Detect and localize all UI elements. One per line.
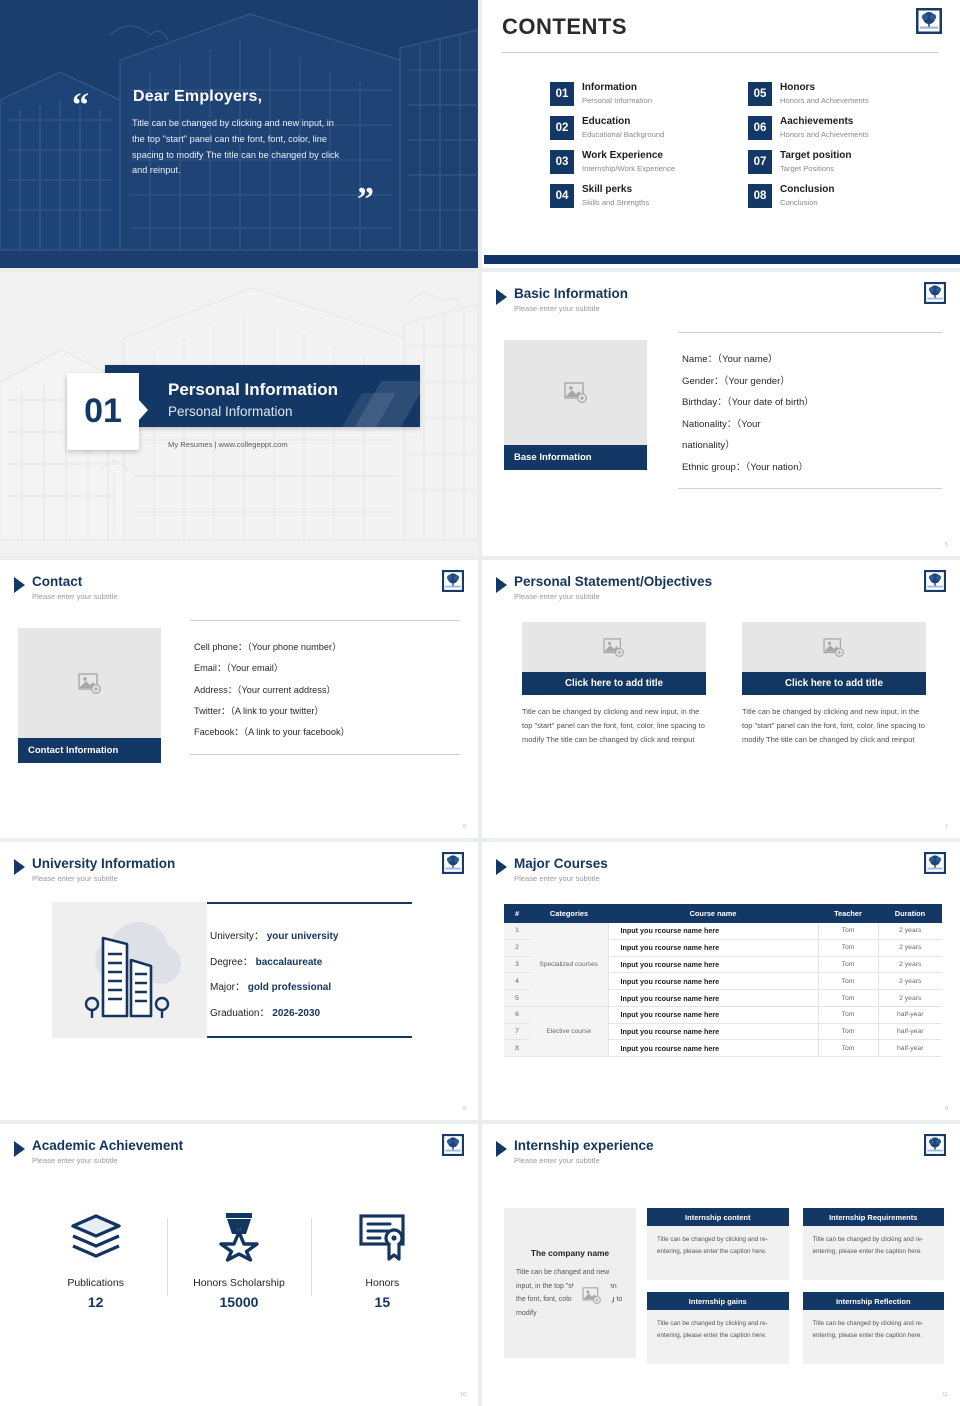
statement-card[interactable]: Click here to add title Title can be cha… [522,622,706,747]
info-panel: Cell phone：（Your phone number） Email：（Yo… [190,620,460,755]
contents-item-sub: Honors and Achievements [780,96,869,106]
contents-item[interactable]: 03 Work Experience Internship/Work Exper… [550,150,748,174]
field-value: 2026-2030 [272,1008,320,1019]
contents-item-number: 06 [748,116,772,140]
table-row[interactable]: 1 Specialized courses Input you rcourse … [504,923,942,939]
card-header: Internship Requirements [803,1208,945,1226]
photo-caption: Contact Information [18,738,161,763]
cell-duration: half-year [878,1006,942,1023]
contact-field: Facebook：（A link to your facebook） [194,722,460,743]
contact-field: Cell phone：（Your phone number） [194,637,460,658]
field-value: your university [267,931,339,942]
cell-index: 6 [504,1006,530,1023]
info-field: Nationality：（Your [682,414,942,436]
contents-item-number: 08 [748,184,772,208]
cell-teacher: Tom [818,923,878,939]
cell-teacher: Tom [818,990,878,1007]
internship-card[interactable]: Internship Requirements Title can be cha… [803,1208,945,1280]
card-body: Title can be changed by clicking and re-… [647,1226,789,1280]
courses-table: # Categories Course name Teacher Duratio… [504,904,942,1057]
field-label: Degree： [210,957,253,968]
header-triangle-icon [496,859,507,875]
cell-course-name: Input you rcourse name here [608,1040,818,1057]
section-meta: My Resumes | www.collegeppt.com [168,440,288,449]
column-header-teacher: Teacher [818,904,878,923]
cell-course-name: Input you rcourse name here [608,1006,818,1023]
cell-course-name: Input you rcourse name here [608,956,818,973]
cell-index: 2 [504,939,530,956]
page-number: 11 [942,1392,948,1398]
cell-index: 8 [504,1040,530,1057]
contact-field-list: Cell phone：（Your phone number） Email：（Yo… [190,621,460,754]
contents-item[interactable]: 08 Conclusion Conclusion [748,184,946,208]
achievement-stat[interactable]: Honors Scholarship 15000 [167,1210,310,1310]
cell-index: 7 [504,1023,530,1040]
image-placeholder[interactable] [742,622,926,672]
photo-block[interactable]: Contact Information [18,628,161,763]
cover-title: Dear Employers, [133,88,262,106]
stat-value: 15000 [167,1294,310,1310]
divider-bottom [190,754,460,755]
cover-body-text: Title can be changed by clicking and new… [132,116,347,179]
slide-header: University Information Please enter your… [14,856,175,883]
university-logo-icon [924,570,946,597]
info-panel: Name：（Your name） Gender：（Your gender） Bi… [678,332,942,489]
contents-item-label: Skill perks [582,184,649,197]
internship-card[interactable]: Internship content Title can be changed … [647,1208,789,1280]
section-arrow-icon [139,400,148,420]
page-subtitle: Please enter your subtitle [514,1156,654,1165]
column-header-categories: Categories [530,904,608,923]
info-field-list: Name：（Your name） Gender：（Your gender） Bi… [678,333,942,488]
page-number: 9 [945,1106,948,1112]
slide-personal-statement[interactable]: Personal Statement/Objectives Please ent… [482,560,960,838]
contents-item-sub: Internship/Work Experience [582,164,675,174]
quote-close-icon: ” [357,190,372,210]
image-placeholder[interactable] [571,1274,613,1316]
contents-item-label: Conclusion [780,184,834,197]
medal-icon [210,1210,268,1262]
cell-category: Specialized courses [530,923,608,1006]
page-title: University Information [32,856,175,872]
cell-teacher: Tom [818,1023,878,1040]
stat-label: Honors Scholarship [167,1277,310,1289]
header-triangle-icon [496,1141,507,1157]
slide-contact[interactable]: Contact Please enter your subtitle Conta… [0,560,478,838]
page-title: Major Courses [514,856,608,872]
contents-item[interactable]: 04 Skill perks Skills and Strengths [550,184,748,208]
stat-value: 15 [311,1294,454,1310]
cell-teacher: Tom [818,956,878,973]
statement-card-row: Click here to add title Title can be cha… [522,622,926,747]
achievement-stat[interactable]: Publications 12 [24,1210,167,1310]
contents-item-number: 05 [748,82,772,106]
slide-header: Academic Achievement Please enter your s… [14,1138,183,1165]
card-header: Internship gains [647,1292,789,1310]
page-subtitle: Please enter your subtitle [32,592,118,601]
contact-field: Twitter：（A link to your twitter） [194,701,460,722]
slide-header: Personal Statement/Objectives Please ent… [496,574,712,601]
slide-contents[interactable]: CONTENTS 01 Information Personal Informa… [482,0,960,268]
cell-index: 5 [504,990,530,1007]
cell-index: 1 [504,923,530,939]
page-subtitle: Please enter your subtitle [514,874,608,883]
section-number: 01 [67,373,139,450]
card-header: Internship content [647,1208,789,1226]
page-subtitle: Please enter your subtitle [514,592,712,601]
page-title: Basic Information [514,286,628,302]
column-header-duration: Duration [878,904,942,923]
page-title: Academic Achievement [32,1138,183,1154]
field-value: gold professional [248,982,331,993]
slide-header: Internship experience Please enter your … [496,1138,654,1165]
contents-item[interactable]: 01 Information Personal Information [550,82,748,106]
divider-bottom [678,488,942,489]
section-subtitle: Personal Information [168,404,293,419]
header-triangle-icon [14,1141,25,1157]
contents-item-number: 07 [748,150,772,174]
contents-item[interactable]: 02 Education Educational Background [550,116,748,140]
contents-item-label: Education [582,116,664,129]
card-title-button[interactable]: Click here to add title [742,672,926,695]
header-triangle-icon [496,577,507,593]
page-number: 8 [463,1106,466,1112]
internship-card[interactable]: Internship gains Title can be changed by… [647,1292,789,1364]
contents-item-sub: Skills and Strengths [582,198,649,208]
info-field: nationality） [682,435,942,457]
slide-university-information[interactable]: University Information Please enter your… [0,842,478,1120]
cell-index: 4 [504,973,530,990]
contents-title: CONTENTS [502,14,627,40]
slide-cover[interactable]: “ ” Dear Employers, Title can be changed… [0,0,478,268]
contents-item-label: Aachievements [780,116,869,129]
image-placeholder[interactable] [18,628,161,738]
card-body: Title can be changed by clicking and re-… [803,1310,945,1364]
achievement-stats-row: Publications 12 Honors Scholarship 15000 [24,1210,454,1310]
table-header-row: # Categories Course name Teacher Duratio… [504,904,942,923]
company-panel[interactable]: The company name Title can be changed an… [504,1208,636,1358]
contents-item-number: 03 [550,150,574,174]
cell-duration: 2 years [878,923,942,939]
cell-index: 3 [504,956,530,973]
slide-header: Major Courses Please enter your subtitle [496,856,608,883]
university-logo-icon [924,282,946,309]
card-body: Title can be changed by clicking and re-… [647,1310,789,1364]
stat-label: Honors [311,1277,454,1289]
page-title: Personal Statement/Objectives [514,574,712,590]
header-triangle-icon [496,289,507,305]
cell-teacher: Tom [818,1040,878,1057]
contents-item-grid: 01 Information Personal Information 05 H… [550,82,946,208]
company-name: The company name [504,1248,636,1258]
contents-footer-bar [484,255,960,264]
books-stack-icon [67,1210,125,1262]
stat-value: 12 [24,1294,167,1310]
page-number: 6 [463,824,466,830]
slide-internship-experience[interactable]: Internship experience Please enter your … [482,1124,960,1406]
slide-academic-achievement[interactable]: Academic Achievement Please enter your s… [0,1124,478,1406]
cell-duration: 2 years [878,990,942,1007]
university-field: Major： gold professional [210,975,338,1001]
card-body-text: Title can be changed by clicking and new… [522,705,706,747]
quote-open-icon: “ [72,96,87,116]
info-field: Birthday：（Your date of birth） [682,392,942,414]
page-number: 7 [945,824,948,830]
cell-course-name: Input you rcourse name here [608,939,818,956]
header-triangle-icon [14,859,25,875]
contents-item-sub: Educational Background [582,130,664,140]
contents-item-sub: Honors and Achievements [780,130,869,140]
column-header-course-name: Course name [608,904,818,923]
cell-teacher: Tom [818,939,878,956]
university-building-icon [52,902,207,1038]
university-field-list: University： your university Degree： bacc… [210,924,338,1026]
contents-item-label: Target position [780,150,851,163]
cell-course-name: Input you rcourse name here [608,990,818,1007]
cell-course-name: Input you rcourse name here [608,1023,818,1040]
add-image-icon [823,638,845,657]
cell-duration: half-year [878,1023,942,1040]
add-image-icon [78,673,102,694]
contents-item-number: 04 [550,184,574,208]
page-subtitle: Please enter your subtitle [32,874,175,883]
achievement-stat[interactable]: Honors 15 [311,1210,454,1310]
slide-section-divider[interactable]: 01 Personal Information Personal Informa… [0,272,478,556]
contents-item[interactable]: 06 Aachievements Honors and Achievements [748,116,946,140]
info-field: Gender：（Your gender） [682,371,942,393]
cell-duration: 2 years [878,973,942,990]
table-row[interactable]: 6 Elective course Input you rcourse name… [504,1006,942,1023]
page-number: 5 [945,542,948,548]
university-field: Graduation： 2026-2030 [210,1001,338,1027]
page-subtitle: Please enter your subtitle [514,304,628,313]
university-field: Degree： baccalaureate [210,950,338,976]
slide-deck-overview: “ ” Dear Employers, Title can be changed… [0,0,960,1400]
page-number: 10 [460,1392,466,1398]
contents-item-label: Honors [780,82,869,95]
add-image-icon [582,1287,602,1304]
slide-major-courses[interactable]: Major Courses Please enter your subtitle… [482,842,960,1120]
photo-block[interactable]: Base Information [504,340,647,470]
add-image-icon [564,382,588,403]
contents-item-number: 02 [550,116,574,140]
cell-course-name: Input you rcourse name here [608,973,818,990]
field-label: Graduation： [210,1008,269,1019]
header-triangle-icon [14,577,25,593]
contents-item-label: Information [582,82,652,95]
contact-field: Email：（Your email） [194,658,460,679]
cell-duration: 2 years [878,956,942,973]
cell-teacher: Tom [818,1006,878,1023]
internship-card-grid: Internship content Title can be changed … [647,1208,944,1364]
contact-field: Address：（Your current address） [194,680,460,701]
info-field: Name：（Your name） [682,349,942,371]
contents-item[interactable]: 07 Target position Target Positions [748,150,946,174]
slide-header: Contact Please enter your subtitle [14,574,118,601]
card-body: Title can be changed by clicking and re-… [803,1226,945,1280]
contents-divider [502,52,938,53]
university-logo-icon [924,1134,946,1161]
field-label: University： [210,931,264,942]
slide-header: Basic Information Please enter your subt… [496,286,628,313]
university-field: University： your university [210,924,338,950]
info-field: Ethnic group：（Your nation） [682,457,942,479]
contents-item-label: Work Experience [582,150,675,163]
page-subtitle: Please enter your subtitle [32,1156,183,1165]
university-logo-icon [442,852,464,879]
statement-card[interactable]: Click here to add title Title can be cha… [742,622,926,747]
cell-category: Elective course [530,1006,608,1056]
contents-item-sub: Conclusion [780,198,834,208]
field-value: baccalaureate [256,957,323,968]
field-label: Major： [210,982,245,993]
contents-item[interactable]: 05 Honors Honors and Achievements [748,82,946,106]
cell-course-name: Input you rcourse name here [608,923,818,939]
card-title-button[interactable]: Click here to add title [522,672,706,695]
university-logo-icon [924,852,946,879]
image-placeholder[interactable] [522,622,706,672]
page-title: Internship experience [514,1138,654,1154]
contents-item-sub: Personal Information [582,96,652,106]
university-logo-icon [442,570,464,597]
contents-item-sub: Target Positions [780,164,851,174]
cell-teacher: Tom [818,973,878,990]
photo-caption: Base Information [504,445,647,470]
contents-item-number: 01 [550,82,574,106]
cell-duration: 2 years [878,939,942,956]
university-logo-icon [916,8,942,39]
card-body-text: Title can be changed by clicking and new… [742,705,926,747]
stat-label: Publications [24,1277,167,1289]
cell-duration: half-year [878,1040,942,1057]
slide-basic-information[interactable]: Basic Information Please enter your subt… [482,272,960,556]
certificate-icon [353,1210,411,1262]
image-placeholder[interactable] [504,340,647,445]
page-title: Contact [32,574,118,590]
university-card: University： your university Degree： bacc… [52,902,412,1038]
add-image-icon [603,638,625,657]
university-logo-icon [442,1134,464,1161]
section-title: Personal Information [168,380,338,400]
internship-card[interactable]: Internship Reflection Title can be chang… [803,1292,945,1364]
column-header-index: # [504,904,530,923]
card-header: Internship Reflection [803,1292,945,1310]
